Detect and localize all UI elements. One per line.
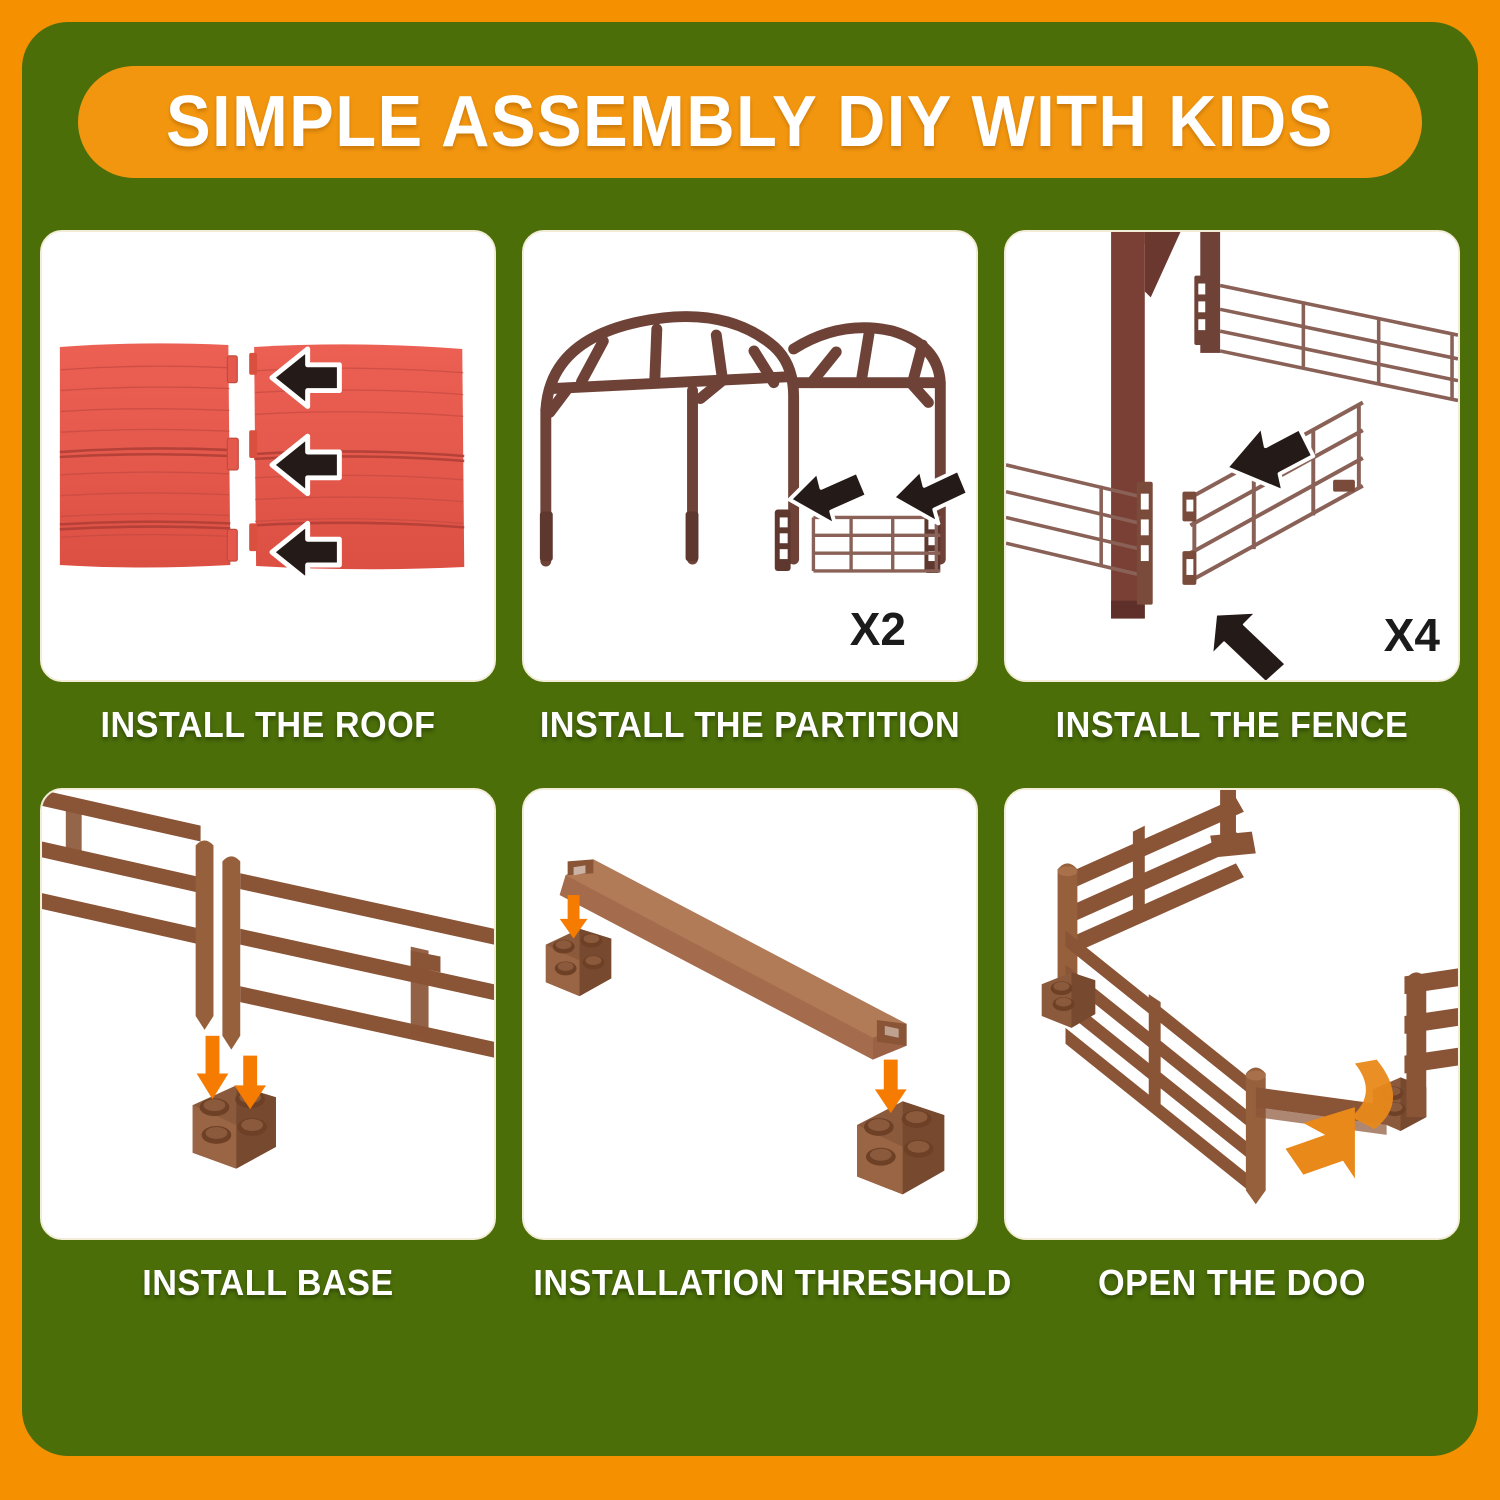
fence-post-left [196,841,214,1030]
step-installation-threshold: INSTALLATION THRESHOLD [522,788,978,1304]
step-caption-door: OPEN THE DOO [1015,1262,1448,1304]
steps-grid: INSTALL THE ROOF [40,230,1460,1304]
step-install-the-roof: INSTALL THE ROOF [40,230,496,746]
step-caption-threshold: INSTALLATION THRESHOLD [533,1262,966,1304]
step-image-door [1004,788,1460,1240]
step-install-the-fence: X4 INSTALL THE FENCE [1004,230,1460,746]
step-install-base: INSTALL BASE [40,788,496,1304]
green-board: SIMPLE ASSEMBLY DIY WITH KIDS [22,22,1478,1456]
step-open-the-doo: OPEN THE DOO [1004,788,1460,1304]
step-caption-fence: INSTALL THE FENCE [1015,704,1448,746]
title-banner: SIMPLE ASSEMBLY DIY WITH KIDS [78,66,1422,178]
step-caption-base: INSTALL BASE [51,1262,484,1304]
quantity-badge-fence: X4 [1384,608,1440,662]
step-install-the-partition: X2 INSTALL THE PARTITION [522,230,978,746]
fence-left-post [1137,482,1153,605]
roof-panel-left [60,343,238,567]
step-image-base [40,788,496,1240]
gate-post-right [1246,1068,1266,1205]
step-caption-partition: INSTALL THE PARTITION [533,704,966,746]
page-title: SIMPLE ASSEMBLY DIY WITH KIDS [166,81,1334,163]
quantity-badge-partition: X2 [850,602,906,656]
assembly-instructions-poster: SIMPLE ASSEMBLY DIY WITH KIDS [0,0,1500,1500]
step-caption-roof: INSTALL THE ROOF [51,704,484,746]
step-image-fence: X4 [1004,230,1460,682]
fence-post-right [222,856,240,1049]
step-image-threshold [522,788,978,1240]
step-image-roof [40,230,496,682]
step-image-partition: X2 [522,230,978,682]
